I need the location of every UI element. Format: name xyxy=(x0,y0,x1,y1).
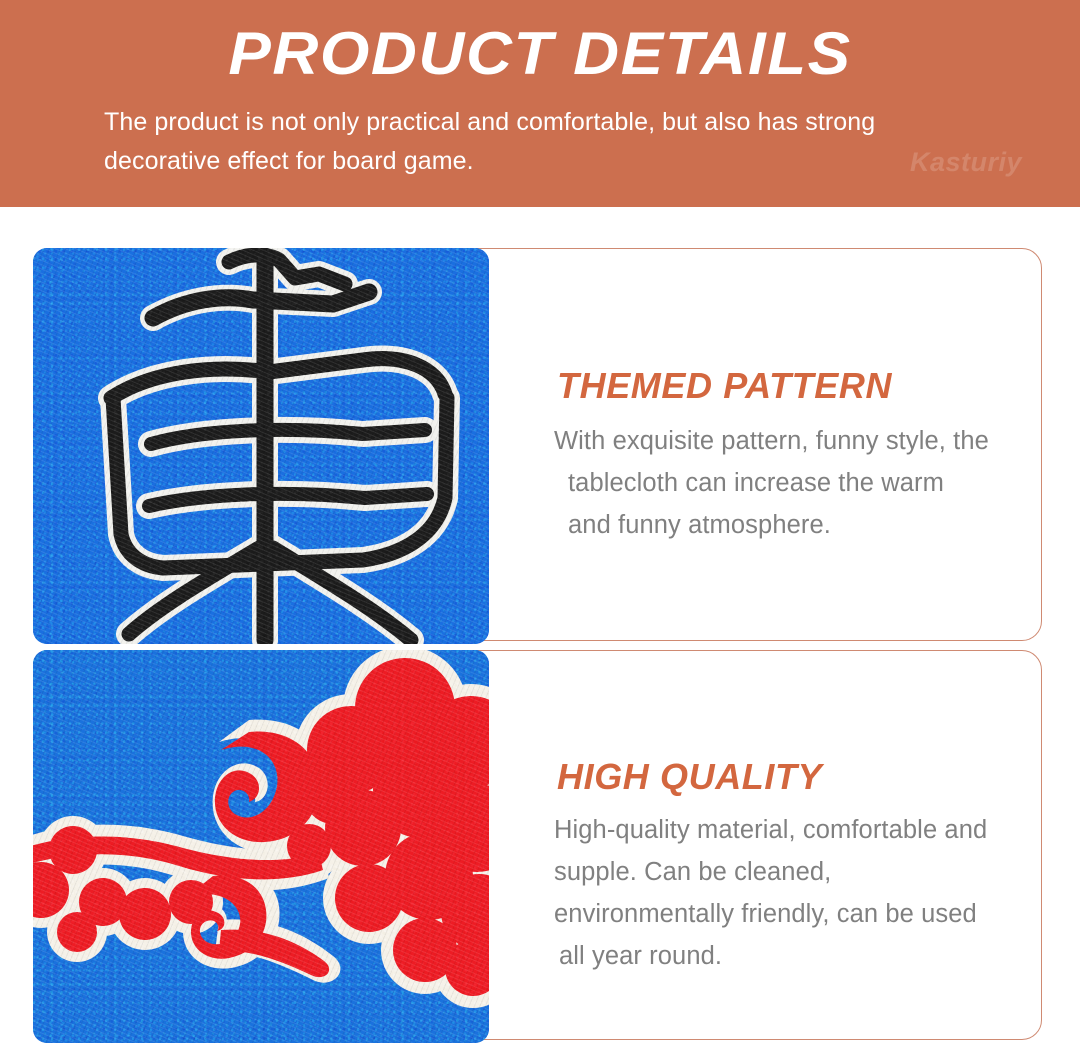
feature-body-line: tablecloth can increase the warm xyxy=(554,462,1074,504)
watermark: Kasturiy xyxy=(910,147,1022,178)
feature-body-line: and funny atmosphere. xyxy=(554,504,1074,546)
feature-body: High-quality material, comfortable and s… xyxy=(554,809,1074,977)
feature-body-line: supple. Can be cleaned, xyxy=(554,851,1074,893)
header-subtitle: The product is not only practical and co… xyxy=(104,103,1034,181)
header-subtitle-line-1: The product is not only practical and co… xyxy=(104,108,875,136)
mahjong-mat-east-character-image xyxy=(33,248,489,644)
header-subtitle-line-2: decorative effect for board game. xyxy=(104,147,474,175)
feature-heading: THEMED PATTERN xyxy=(557,365,892,407)
east-character-illustration xyxy=(33,248,489,644)
feature-cards-area: THEMED PATTERN With exquisite pattern, f… xyxy=(0,207,1080,1043)
mahjong-mat-red-cloud-image xyxy=(33,650,489,1043)
feature-body-line: High-quality material, comfortable and xyxy=(554,809,1074,851)
feature-body: With exquisite pattern, funny style, the… xyxy=(554,420,1074,546)
red-cloud-pattern-illustration xyxy=(33,650,489,1043)
product-details-header: PRODUCT DETAILS The product is not only … xyxy=(0,0,1080,207)
feature-card-text-high-quality: HIGH QUALITY High-quality material, comf… xyxy=(521,651,1041,1039)
feature-body-line: With exquisite pattern, funny style, the xyxy=(554,420,1074,462)
feature-body-line: environmentally friendly, can be used xyxy=(554,893,1074,935)
feature-card-high-quality: HIGH QUALITY High-quality material, comf… xyxy=(33,650,1042,1040)
feature-card-themed-pattern: THEMED PATTERN With exquisite pattern, f… xyxy=(33,248,1042,641)
feature-body-line: all year round. xyxy=(554,935,1074,977)
feature-heading: HIGH QUALITY xyxy=(557,756,822,798)
page-title: PRODUCT DETAILS xyxy=(0,22,1080,86)
feature-card-text-themed-pattern: THEMED PATTERN With exquisite pattern, f… xyxy=(521,249,1041,640)
